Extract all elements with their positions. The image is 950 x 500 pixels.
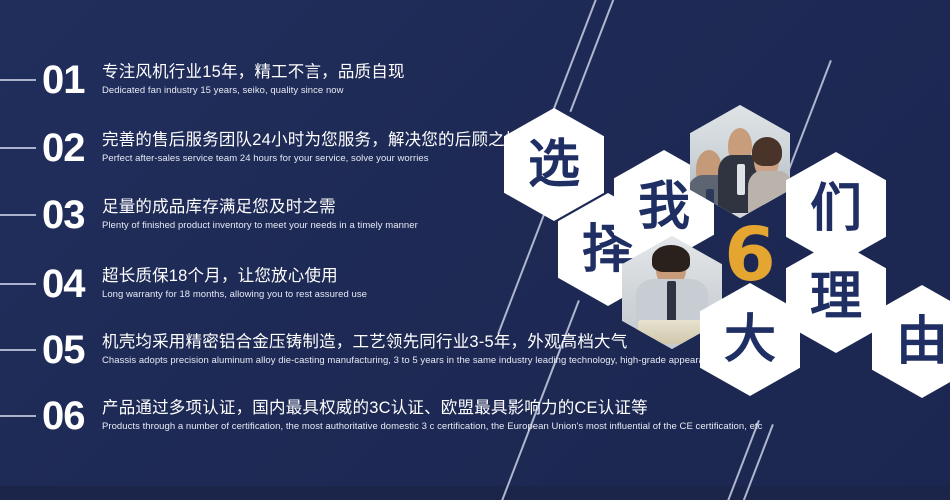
hex-glyph: 我 <box>638 181 690 233</box>
headline-hex-cluster: 选 择 我 <box>0 0 950 500</box>
promo-banner: 01 专注风机行业15年，精工不言，品质自现 Dedicated fan ind… <box>0 0 950 500</box>
hex-glyph: 由 <box>896 316 948 368</box>
hex-glyph-accent: 6 <box>724 218 776 292</box>
hex-glyph: 大 <box>724 314 776 366</box>
hex-glyph: 选 <box>528 139 580 191</box>
hex-cell-li: 理 <box>786 240 886 353</box>
hex-glyph: 理 <box>810 271 862 323</box>
hex-glyph: 们 <box>810 183 862 235</box>
